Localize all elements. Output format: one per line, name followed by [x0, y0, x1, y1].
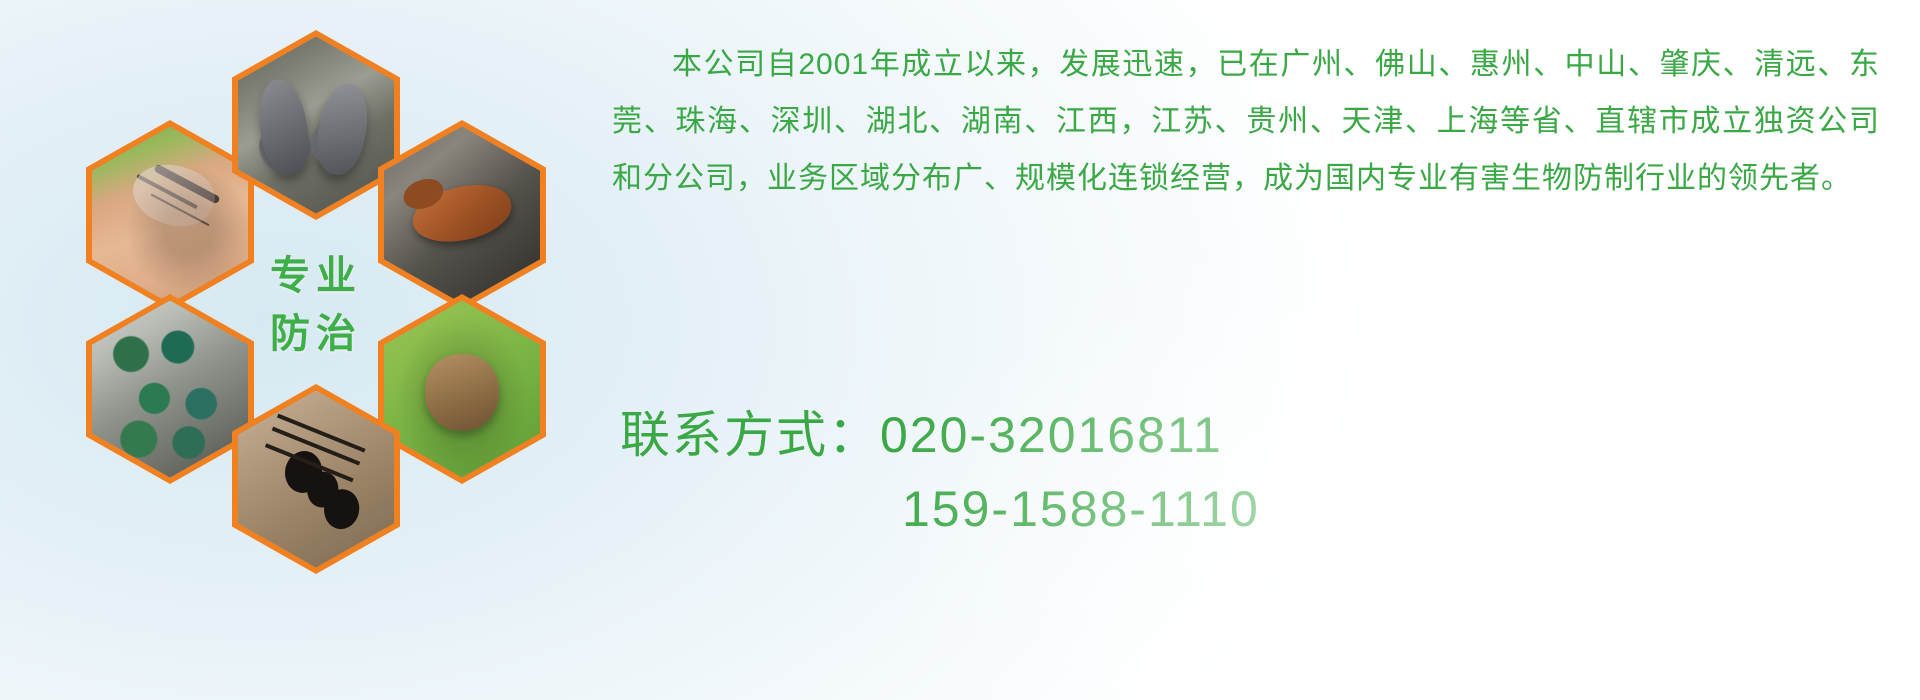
- mosquito-photo: [92, 127, 248, 304]
- cockroach-photo: [384, 127, 540, 304]
- hex-cell-ant[interactable]: [232, 384, 400, 574]
- phone-secondary[interactable]: 159-1588-1110: [620, 472, 1900, 546]
- contact-block: 联系方式：020-32016811 159-1588-1110: [620, 398, 1900, 546]
- stink-bug-photo: [384, 301, 540, 478]
- contact-label: 联系方式：: [620, 407, 880, 463]
- contact-primary-line[interactable]: 联系方式：020-32016811: [620, 398, 1900, 472]
- promo-banner: 专业 防治 本公司自2001年成立以来，发展迅速，已在广州、佛山、惠州、中山、肇…: [0, 0, 1920, 700]
- phone-primary[interactable]: 020-32016811: [880, 407, 1223, 463]
- ant-photo: [238, 391, 394, 568]
- flies-photo: [92, 301, 248, 478]
- center-label-line-2: 防治: [270, 305, 362, 363]
- hex-cell-stink-bug[interactable]: [378, 294, 546, 484]
- company-intro: 本公司自2001年成立以来，发展迅速，已在广州、佛山、惠州、中山、肇庆、清远、东…: [612, 36, 1880, 207]
- rats-photo: [238, 37, 394, 214]
- hex-cell-mosquito[interactable]: [86, 120, 254, 310]
- company-intro-text: 本公司自2001年成立以来，发展迅速，已在广州、佛山、惠州、中山、肇庆、清远、东…: [612, 36, 1880, 207]
- hex-cell-rats[interactable]: [232, 30, 400, 220]
- honeycomb-collage: 专业 防治: [86, 8, 586, 568]
- hex-cell-cockroach[interactable]: [378, 120, 546, 310]
- center-label-line-1: 专业: [270, 247, 362, 305]
- honeycomb-center-label: 专业 防治: [232, 210, 400, 400]
- hex-cell-flies[interactable]: [86, 294, 254, 484]
